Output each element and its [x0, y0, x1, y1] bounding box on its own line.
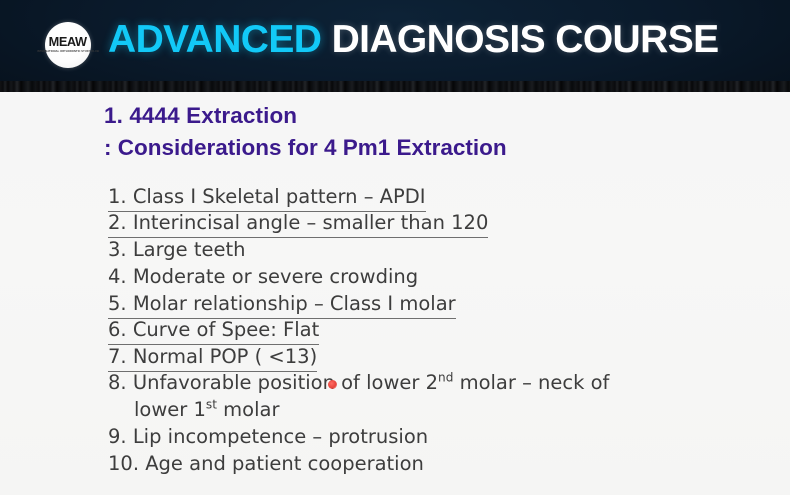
list-item-continuation: lower 1st molar [108, 397, 733, 424]
list-item-text: Lip incompetence – protrusion [133, 425, 428, 448]
logo-sub-text: INTERNATIONAL ORTHODONTIC STUDY CLUB [37, 51, 99, 54]
list-item-number: 2. [108, 211, 127, 234]
list-item-text: Large teeth [133, 238, 246, 261]
course-banner: MEAW INTERNATIONAL ORTHODONTIC STUDY CLU… [0, 0, 790, 92]
considerations-list: 1. Class I Skeletal pattern – APDI 2. In… [108, 184, 768, 478]
list-item-superscript: nd [438, 371, 453, 385]
list-item-cont-text-2: molar [217, 398, 280, 421]
list-item-number: 9. [108, 425, 127, 448]
list-item-text: Class I Skeletal pattern – APDI [133, 185, 426, 208]
list-item-number: 6. [108, 318, 127, 341]
banner-title-highlight: ADVANCED [108, 18, 321, 61]
banner-title-rest: DIAGNOSIS COURSE [321, 18, 718, 61]
list-item-number: 7. [108, 345, 127, 368]
list-item: 6. Curve of Spee: Flat [108, 317, 319, 345]
list-item-number: 3. [108, 238, 127, 261]
slide-canvas: MEAW INTERNATIONAL ORTHODONTIC STUDY CLU… [0, 0, 790, 495]
list-item: 10. Age and patient cooperation [108, 451, 424, 478]
meaw-logo-icon: MEAW INTERNATIONAL ORTHODONTIC STUDY CLU… [45, 22, 91, 68]
list-item-text-2: molar – neck of [453, 371, 609, 394]
heading-line-1: 1. 4444 Extraction [104, 100, 507, 132]
list-item-text: Curve of Spee: Flat [133, 318, 319, 341]
list-item: 9. Lip incompetence – protrusion [108, 424, 428, 451]
list-item: 4. Moderate or severe crowding [108, 264, 418, 291]
list-item-text: Moderate or severe crowding [133, 265, 418, 288]
list-item: 5. Molar relationship – Class I molar [108, 291, 456, 319]
banner-title: ADVANCED DIAGNOSIS COURSE [108, 16, 719, 65]
banner-bottom-noise-strip [0, 81, 790, 92]
list-item-cont-text: lower 1 [134, 398, 206, 421]
list-item-number: 1. [108, 185, 127, 208]
list-item-text: Age and patient cooperation [145, 452, 424, 475]
list-item-superscript-2: st [206, 397, 217, 411]
slide-body: 1. 4444 Extraction : Considerations for … [0, 92, 790, 495]
list-item: 8. Unfavorable position of lower 2nd mol… [108, 370, 733, 424]
list-item-number: 5. [108, 292, 127, 315]
banner-content: MEAW INTERNATIONAL ORTHODONTIC STUDY CLU… [0, 0, 790, 84]
heading-line-2: : Considerations for 4 Pm1 Extraction [104, 132, 507, 164]
list-item: 3. Large teeth [108, 237, 246, 264]
list-item-number: 10. [108, 452, 139, 475]
list-item-text: Unfavorable position of lower 2 [133, 371, 438, 394]
list-item: 1. Class I Skeletal pattern – APDI [108, 184, 426, 212]
list-item: 7. Normal POP ( <13) [108, 344, 317, 372]
list-item-text: Molar relationship – Class I molar [133, 292, 456, 315]
logo-main-text: MEAW [49, 36, 87, 49]
list-item: 2. Interincisal angle – smaller than 120 [108, 210, 488, 238]
list-item-number: 8. [108, 371, 127, 394]
list-item-number: 4. [108, 265, 127, 288]
list-item-text: Normal POP ( <13) [133, 345, 317, 368]
list-item-text: Interincisal angle – smaller than 120 [133, 211, 489, 234]
slide-heading: 1. 4444 Extraction : Considerations for … [104, 100, 507, 164]
